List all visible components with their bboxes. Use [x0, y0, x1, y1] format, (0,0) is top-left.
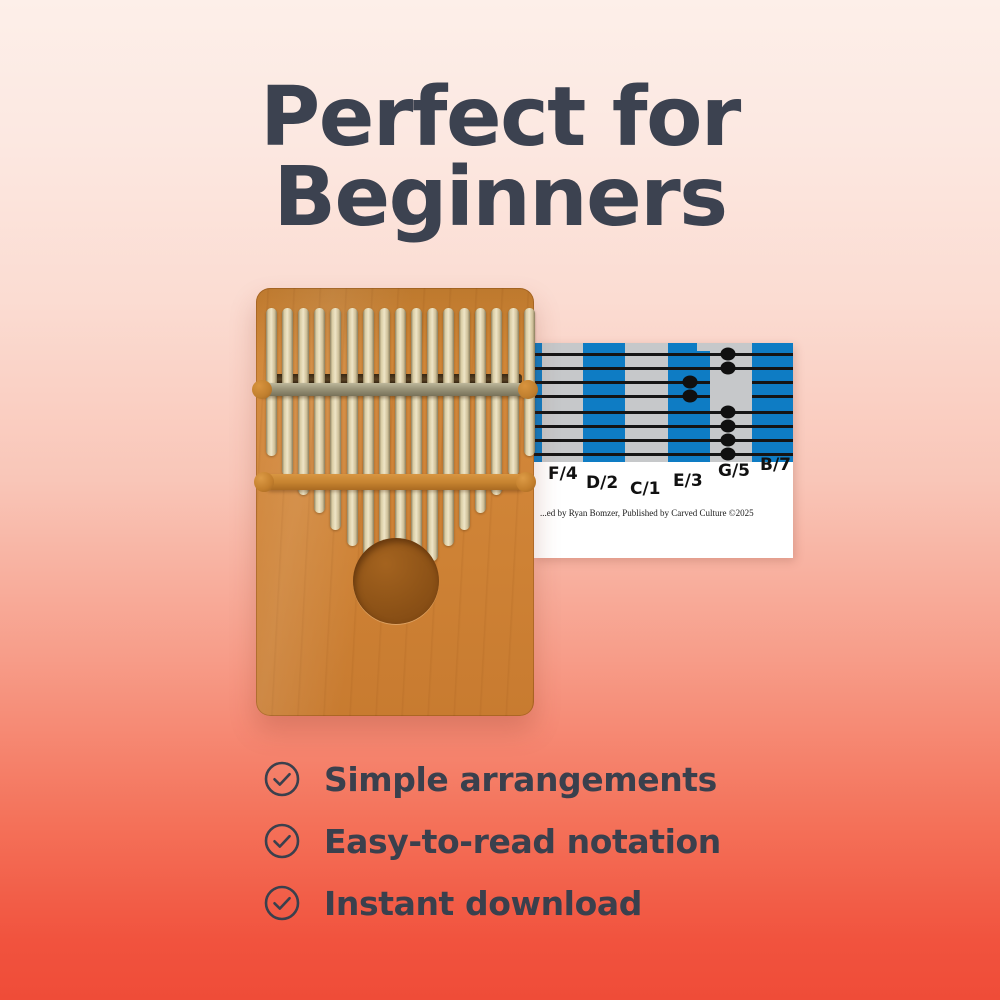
feature-label: Easy-to-read notation [324, 822, 721, 861]
key-label-f4: F/4 [548, 464, 578, 484]
feature-item: Simple arrangements [262, 748, 782, 810]
check-circle-icon [262, 821, 302, 861]
kalimba-tine [379, 308, 390, 574]
kalimba-tine [347, 308, 358, 546]
kalimba-bridge-knob-left [252, 380, 272, 399]
key-label-b7: B/7 [760, 455, 791, 475]
feature-label: Instant download [324, 884, 642, 923]
check-circle-icon [262, 759, 302, 799]
sheet-credit-line: ...ed by Ryan Bomzer, Published by Carve… [540, 508, 754, 518]
key-label-g5: G/5 [718, 461, 750, 481]
kalimba-bridge-bar [257, 383, 533, 396]
kalimba-tine [298, 308, 309, 495]
staff-line [534, 453, 793, 456]
kalimba-tine [491, 308, 502, 495]
notehead [721, 406, 736, 419]
kalimba-tine [363, 308, 374, 561]
staff-mask [710, 377, 752, 401]
staff-line [534, 353, 793, 356]
sheet-music-card: F/4 D/2 C/1 E/3 G/5 B/7 ...ed by Ryan Bo… [534, 343, 793, 558]
notehead [683, 390, 698, 403]
kalimba-tine [411, 308, 422, 574]
kalimba-saddle-knob-right [516, 472, 536, 492]
key-column-d2 [583, 343, 625, 462]
staff-line [534, 425, 793, 428]
staff-line [534, 439, 793, 442]
kalimba-saddle [264, 474, 526, 490]
notehead [721, 362, 736, 375]
page-title: Perfect for Beginners [0, 78, 1000, 239]
feature-item: Instant download [262, 872, 782, 934]
notehead [721, 448, 736, 461]
notehead [721, 348, 736, 361]
promo-stage: Perfect for Beginners [0, 0, 1000, 1000]
tablature-stave [534, 343, 793, 462]
notehead [683, 376, 698, 389]
staff-line [534, 367, 793, 370]
key-label-e3: E/3 [673, 471, 703, 491]
kalimba-tine [443, 308, 454, 546]
kalimba-sound-hole [353, 538, 439, 624]
key-label-d2: D/2 [586, 473, 618, 493]
kalimba-tine [330, 308, 341, 530]
staff-line [534, 381, 793, 384]
key-label-c1: C/1 [630, 479, 661, 499]
staff-line [534, 411, 793, 414]
notehead [721, 434, 736, 447]
feature-label: Simple arrangements [324, 760, 717, 799]
kalimba-instrument [256, 288, 534, 716]
key-column-b7 [752, 343, 793, 462]
kalimba-saddle-knob-left [254, 472, 274, 492]
notehead [721, 420, 736, 433]
staff-line [534, 395, 793, 398]
kalimba-bridge-knob-right [518, 380, 538, 399]
headline-line-2: Beginners [0, 158, 1000, 238]
kalimba-tines [256, 288, 534, 716]
kalimba-tine [427, 308, 438, 561]
key-column-f4 [534, 343, 542, 462]
feature-list: Simple arrangementsEasy-to-read notation… [262, 748, 782, 934]
feature-item: Easy-to-read notation [262, 810, 782, 872]
key-column-e3 [668, 343, 710, 462]
check-circle-icon [262, 883, 302, 923]
kalimba-tine [459, 308, 470, 530]
